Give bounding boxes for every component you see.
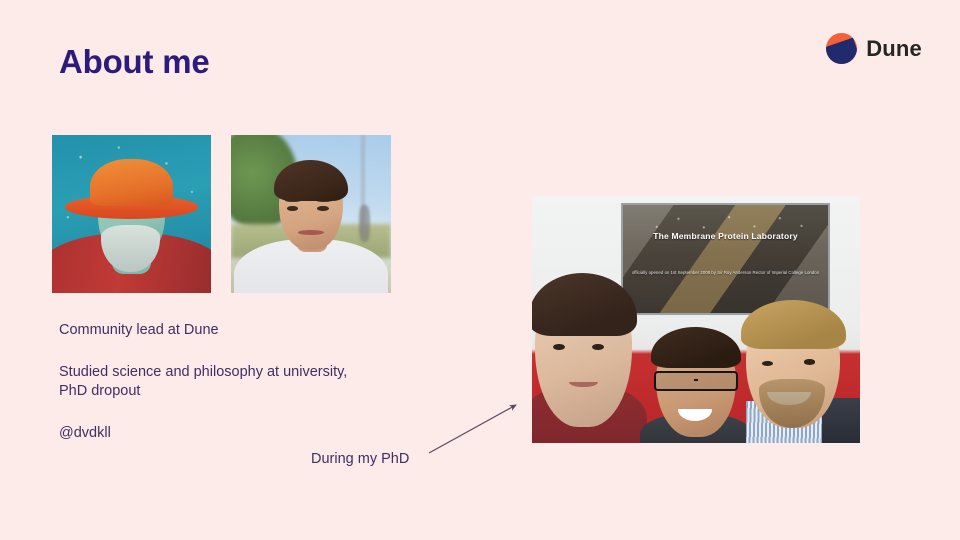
- dune-logo: Dune: [826, 33, 922, 64]
- bio-line-role: Community lead at Dune: [59, 321, 359, 340]
- dune-logo-mark-icon: [826, 33, 857, 64]
- photo-caption: During my PhD: [311, 451, 409, 467]
- plaque-subtitle: officially opened on 1st September 2008 …: [623, 270, 829, 277]
- bio-line-education: Studied science and philosophy at univer…: [59, 363, 359, 401]
- group-photo-image: The Membrane Protein Laboratory official…: [532, 196, 860, 443]
- avatar-illustration-image: [52, 135, 211, 293]
- avatar-photo-image: [231, 135, 391, 293]
- group-photo-person-left: [532, 265, 650, 443]
- plaque-frame: The Membrane Protein Laboratory official…: [621, 203, 831, 314]
- slide-canvas: About me Dune: [0, 0, 960, 540]
- group-photo-person-right: [735, 300, 860, 443]
- page-title: About me: [59, 44, 210, 80]
- dune-logo-text: Dune: [866, 36, 922, 62]
- bio-text-block: Community lead at Dune Studied science a…: [59, 321, 359, 444]
- plaque-title: The Membrane Protein Laboratory: [623, 231, 829, 242]
- bio-line-handle: @dvdkll: [59, 424, 359, 443]
- caption-arrow-icon: [420, 392, 530, 462]
